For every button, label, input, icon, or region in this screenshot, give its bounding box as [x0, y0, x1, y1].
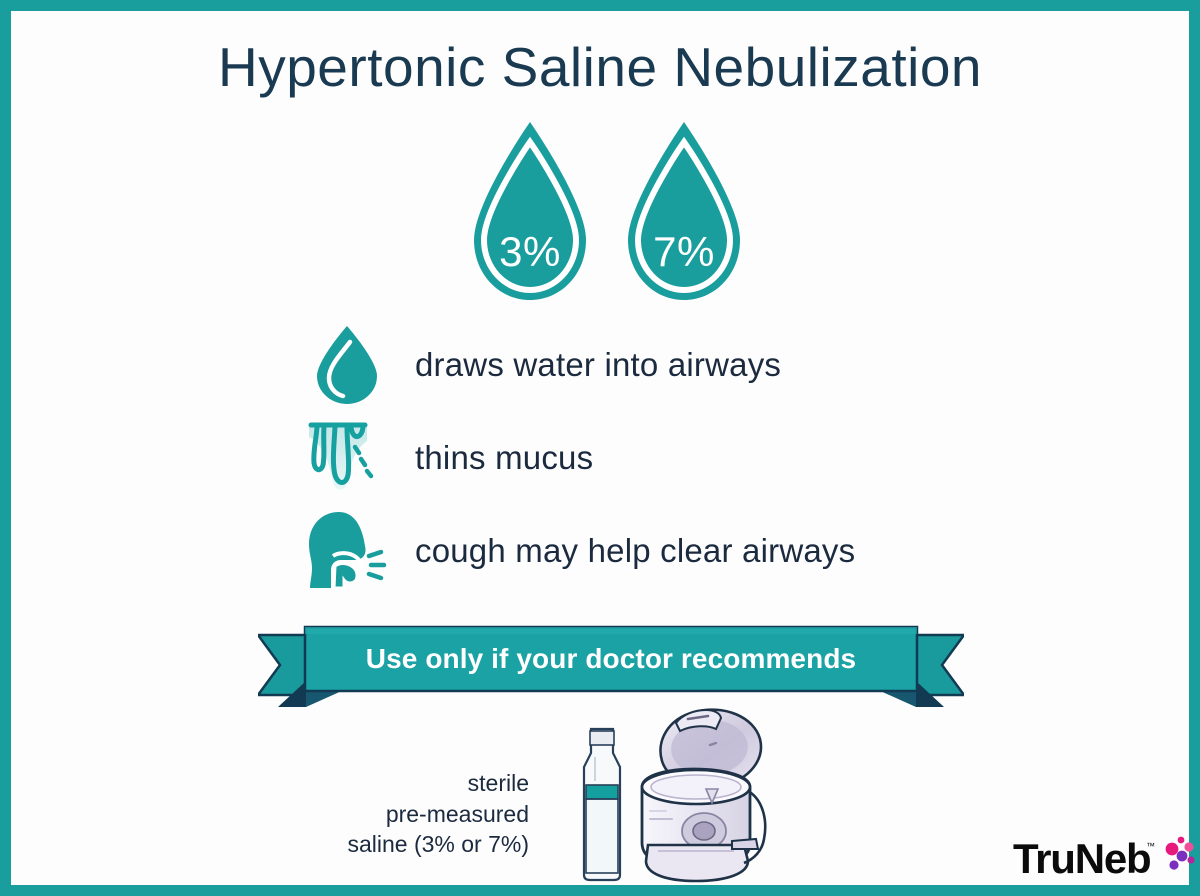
concentration-droplets-group: 3% 7%	[454, 111, 764, 311]
brand-logo: TruNeb ™	[1013, 838, 1193, 894]
benefit-row-thins-mucus: thins mucus	[301, 415, 593, 501]
benefit-label: cough may help clear airways	[393, 532, 855, 570]
mucus-drip-icon	[301, 415, 393, 501]
concentration-label: 7%	[614, 228, 754, 276]
advisory-banner-text: Use only if your doctor recommends	[258, 643, 964, 675]
benefit-icon-wrapper	[301, 415, 393, 501]
saline-vial-icon	[573, 723, 631, 883]
infographic-poster: Hypertonic Saline Nebulization 3% 7% dr	[0, 0, 1200, 896]
brand-wordmark: TruNeb	[1013, 838, 1150, 880]
concentration-droplet-7: 7%	[614, 116, 754, 306]
nebulizer-device	[632, 703, 780, 885]
benefit-icon-wrapper	[301, 508, 393, 594]
coughing-head-icon	[301, 508, 393, 594]
water-droplet-icon	[460, 116, 600, 306]
benefit-label: thins mucus	[393, 439, 593, 477]
benefit-icon-wrapper	[301, 322, 393, 408]
nebulizer-cup-icon	[632, 703, 780, 885]
advisory-banner: Use only if your doctor recommends	[258, 619, 964, 711]
product-caption: sterile pre-measured saline (3% or 7%)	[347, 768, 529, 860]
caption-line: pre-measured	[347, 799, 529, 830]
benefit-row-cough-clears: cough may help clear airways	[301, 508, 855, 594]
benefit-row-draws-water: draws water into airways	[301, 322, 781, 408]
concentration-label: 3%	[460, 228, 600, 276]
concentration-droplet-3: 3%	[460, 116, 600, 306]
caption-line: sterile	[347, 768, 529, 799]
saline-vial	[573, 723, 631, 883]
aerosol-dots-shape	[1152, 834, 1196, 880]
caption-line: saline (3% or 7%)	[347, 829, 529, 860]
nebulizer-cup-body	[642, 769, 765, 881]
aerosol-dots-icon	[1152, 834, 1196, 880]
water-droplet-icon	[614, 116, 754, 306]
water-droplet-icon	[301, 322, 393, 408]
page-title: Hypertonic Saline Nebulization	[11, 35, 1189, 99]
benefit-label: draws water into airways	[393, 346, 781, 384]
